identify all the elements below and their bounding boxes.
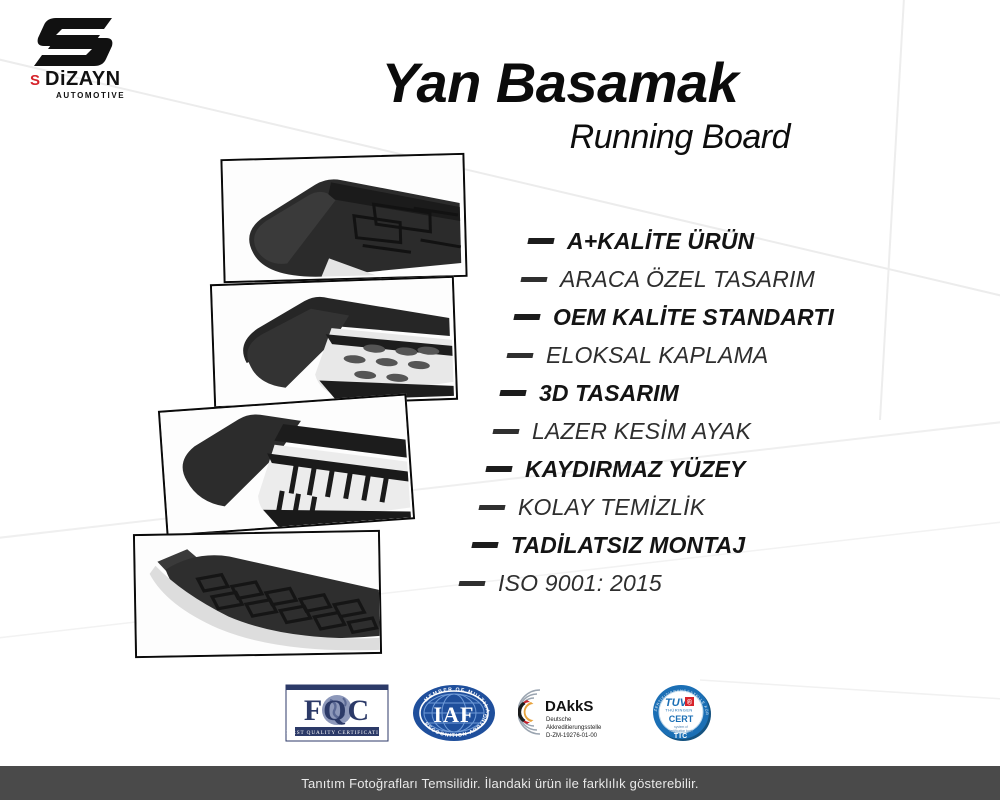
feature-dash-icon [471, 542, 498, 548]
feature-label: A [567, 230, 584, 253]
svg-text:D-ZM-19276-01-00: D-ZM-19276-01-00 [546, 733, 598, 739]
footer-disclaimer: Tanıtım Fotoğrafları Temsilidir. İlandak… [301, 776, 699, 791]
s-monogram-icon [26, 16, 118, 68]
feature-list: A+KALİTE ÜRÜNARACA ÖZEL TASARIMOEM KALİT… [455, 222, 925, 602]
feature-dash-icon [520, 277, 547, 282]
feature-item: ISO 9001: 2015 [455, 564, 925, 602]
svg-text:THÜRINGEN: THÜRINGEN [665, 708, 692, 713]
feature-label: OEM KALİTE STANDARTI [553, 306, 834, 329]
feature-item: LAZER KESİM AYAK [455, 412, 925, 450]
feature-label: 3D TASARIM [539, 382, 679, 405]
feature-item: KAYDIRMAZ YÜZEY [455, 450, 925, 488]
product-banner: S DiZAYN AUTOMOTIVE Yan Basamak Running … [0, 0, 1000, 800]
svg-text:IAF: IAF [433, 702, 474, 727]
running-board-photo-4[interactable] [133, 530, 382, 658]
feature-dash-icon [499, 390, 526, 396]
product-gallery [120, 150, 460, 670]
feature-label: KOLAY TEMİZLİK [518, 496, 705, 519]
feature-item: ELOKSAL KAPLAMA [455, 336, 925, 374]
feature-label: ISO 9001: 2015 [498, 572, 662, 595]
certification-badges: FQC FIRST QUALITY CERTIFICATION IAF [285, 682, 715, 744]
running-board-photo-1[interactable] [220, 153, 467, 283]
feature-label-suffix: KALİTE ÜRÜN [597, 230, 754, 253]
svg-text:®: ® [687, 699, 693, 707]
running-board-photo-2[interactable] [210, 276, 458, 408]
feature-item: ARACA ÖZEL TASARIM [455, 260, 925, 298]
brand-wordmark: S DiZAYN [30, 69, 166, 89]
feature-dash-icon [513, 314, 540, 320]
page-title-block: Yan Basamak Running Board [300, 55, 820, 154]
feature-dash-icon [458, 581, 485, 586]
svg-text:CERT: CERT [669, 714, 694, 724]
iaf-certification-logo: IAF MEMBER OF MULTILATERAL RECOGNITION A… [410, 683, 498, 743]
feature-item: 3D TASARIM [455, 374, 925, 412]
feature-item: A+KALİTE ÜRÜN [455, 222, 925, 260]
svg-text:TIC: TIC [674, 733, 688, 740]
svg-text:DAkkS: DAkkS [545, 698, 593, 715]
page-title: Yan Basamak [300, 55, 820, 111]
brand-logo-tagline: AUTOMOTIVE [56, 91, 166, 100]
brand-logo-name: DiZAYN [45, 69, 121, 89]
svg-text:Deutsche: Deutsche [546, 717, 572, 723]
fqc-certification-logo: FQC FIRST QUALITY CERTIFICATION [285, 684, 389, 742]
brand-logo[interactable]: S DiZAYN AUTOMOTIVE [26, 16, 166, 100]
feature-item: KOLAY TEMİZLİK [455, 488, 925, 526]
feature-dash-icon [506, 353, 533, 358]
feature-label: ARACA ÖZEL TASARIM [560, 268, 815, 291]
feature-dash-icon [527, 238, 554, 244]
feature-item: OEM KALİTE STANDARTI [455, 298, 925, 336]
feature-label: LAZER KESİM AYAK [532, 420, 751, 443]
page-subtitle: Running Board [300, 120, 820, 154]
feature-dash-icon [485, 466, 512, 472]
feature-label-highlight: + [584, 230, 598, 253]
svg-text:FQC: FQC [304, 694, 370, 727]
feature-label: ELOKSAL KAPLAMA [546, 344, 768, 367]
brand-logo-s: S [30, 73, 40, 88]
feature-dash-icon [492, 429, 519, 434]
feature-dash-icon [478, 505, 505, 510]
footer-bar: Tanıtım Fotoğrafları Temsilidir. İlandak… [0, 766, 1000, 800]
dakks-certification-logo: DAkkS Deutsche Akkreditierungsstelle D-Z… [518, 686, 628, 740]
feature-label: TADİLATSIZ MONTAJ [511, 534, 745, 557]
svg-text:Akkreditierungsstelle: Akkreditierungsstelle [546, 725, 602, 731]
tuv-certification-logo: TUV ® THÜRINGEN CERT system of certifica… [649, 682, 715, 744]
feature-item: TADİLATSIZ MONTAJ [455, 526, 925, 564]
svg-text:FIRST QUALITY CERTIFICATION: FIRST QUALITY CERTIFICATION [286, 730, 388, 736]
running-board-photo-3[interactable] [158, 393, 415, 536]
feature-label: KAYDIRMAZ YÜZEY [525, 458, 745, 481]
